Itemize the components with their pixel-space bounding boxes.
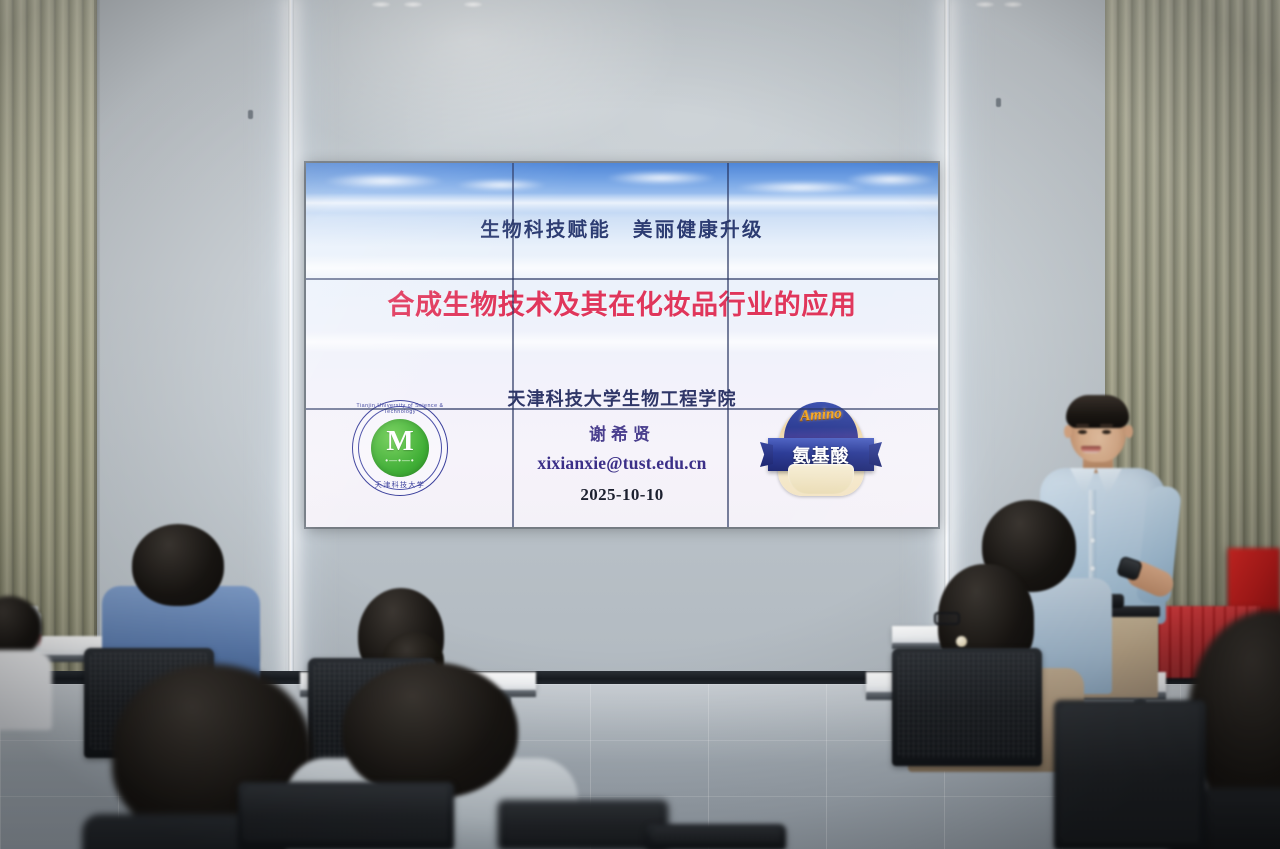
pearl-earring [956, 636, 967, 647]
presenter-eye [1078, 430, 1087, 434]
fluted-wall-panel-left [0, 0, 97, 676]
presenter-eyebrow [1100, 424, 1113, 427]
audience-head [342, 662, 518, 798]
amino-brand-logo-icon: Amino 氨基酸 [766, 398, 876, 503]
slide-header-text: 生物科技赋能 美丽健康升级 [306, 213, 938, 242]
ceiling-spotlight [464, 2, 482, 7]
ceiling-spotlight [372, 2, 390, 7]
office-chair [1054, 700, 1206, 849]
chair-mesh-back [652, 829, 780, 842]
wall-fixture-dot [996, 98, 1001, 107]
office-chair [238, 782, 454, 849]
led-light-strip-left [288, 0, 294, 676]
chair-mesh-back [244, 787, 448, 842]
presenter-eyebrow [1076, 424, 1089, 427]
presenter-eye [1102, 430, 1111, 434]
video-wall-display[interactable]: 生物科技赋能 美丽健康升级 合成生物技术及其在化妆品行业的应用 天津科技大学生物… [306, 163, 938, 527]
chair-mesh-back [1060, 705, 1200, 842]
audience-torso [0, 650, 52, 730]
video-wall-bezel-seam [306, 278, 938, 280]
university-logo-icon: Tianjin University of Science & Technolo… [352, 400, 448, 496]
logo-center-glyph: M [352, 427, 448, 456]
chair-mesh-back [898, 653, 1036, 758]
badge-bowl-shape [788, 464, 854, 494]
logo-molecule-glyph: •—•—• [352, 456, 448, 465]
presentation-slide: 生物科技赋能 美丽健康升级 合成生物技术及其在化妆品行业的应用 天津科技大学生物… [306, 163, 938, 527]
audience-member [0, 596, 56, 726]
ceiling-spotlight [404, 2, 422, 7]
presentation-room-photo: 生物科技赋能 美丽健康升级 合成生物技术及其在化妆品行业的应用 天津科技大学生物… [0, 0, 1280, 849]
chair-mesh-back [504, 805, 662, 842]
office-chair [646, 824, 786, 849]
video-wall-bezel-seam [727, 163, 729, 527]
presenter-ear [1125, 425, 1133, 438]
eyeglasses-icon [934, 612, 960, 625]
presenter-ear [1064, 425, 1072, 438]
audience-head [132, 524, 224, 606]
presenter-hair [1066, 395, 1129, 428]
wall-fixture-dot [248, 110, 253, 119]
logo-outer-text-cn: 天津科技大学 [352, 480, 448, 490]
slide-title-text: 合成生物技术及其在化妆品行业的应用 [306, 283, 938, 322]
audience-head [0, 596, 42, 658]
ceiling-spotlight [976, 2, 994, 7]
presenter-mouth [1081, 446, 1101, 453]
office-chair [498, 800, 668, 849]
video-wall-bezel-seam [306, 408, 938, 410]
ceiling-spotlight [1004, 2, 1022, 7]
video-wall-bezel-seam [512, 163, 514, 527]
office-chair [892, 648, 1042, 766]
